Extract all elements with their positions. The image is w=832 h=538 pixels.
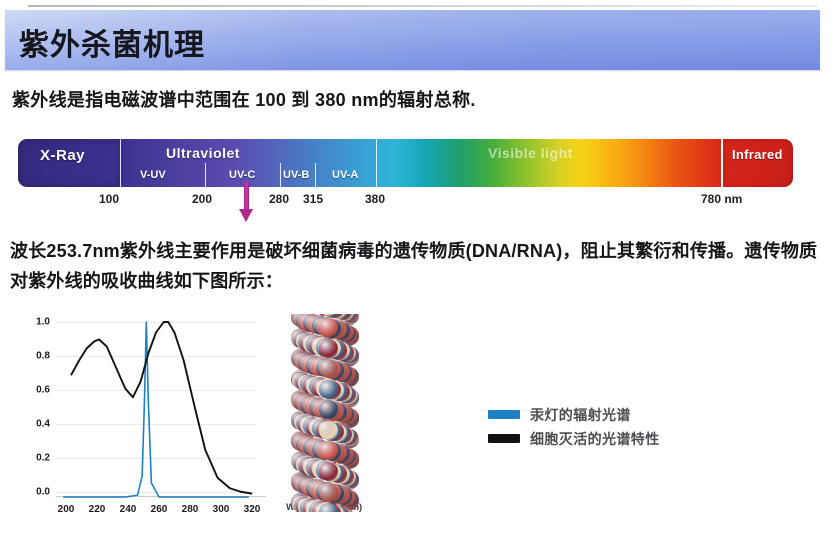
chart-xtick: 200: [58, 504, 75, 515]
chart-legend: 汞灯的辐射光谱 细胞灭活的光谱特性: [488, 405, 738, 461]
spectrum-band-ultraviolet-label: Ultraviolet: [166, 145, 240, 161]
legend-label: 汞灯的辐射光谱: [530, 405, 631, 425]
chart-plot-area: 1.0 0.8 0.6 0.4 0.2 0.0 200 220 240 260 …: [56, 322, 256, 497]
spectrum-divider-315: [315, 163, 316, 187]
chart-xtick: 280: [182, 504, 199, 515]
spectrum-subband-uv-a-label: UV-A: [332, 169, 358, 181]
spectrum-divider-200: [205, 163, 206, 187]
chart-ytick: 0.0: [36, 487, 50, 498]
chart-xtick: 300: [213, 504, 230, 515]
spectrum-subband-uv-b-label: UV-B: [283, 169, 309, 181]
spectrum-subband-v-uv-label: V-UV: [140, 169, 166, 181]
chart-xtick: 320: [244, 504, 261, 515]
spectrum-band-xray-label: X-Ray: [40, 147, 85, 164]
chart-xtick: 240: [120, 504, 137, 515]
slide-root: 紫外杀菌机理 紫外线是指电磁波谱中范围在 100 到 380 nm的辐射总称. …: [0, 0, 832, 538]
legend-swatch-icon: [488, 410, 520, 419]
spectrum-band-xray: X-Ray: [18, 139, 120, 187]
top-divider-rule: [28, 5, 818, 7]
chart-ytick: 0.2: [36, 453, 50, 464]
chart-ytick: 1.0: [36, 317, 50, 328]
spectrum-figure: X-Ray Ultraviolet Visible light Infrared…: [0, 132, 832, 224]
spectrum-tick-315: 315: [303, 192, 323, 206]
chart-xtick: 220: [89, 504, 106, 515]
spectrum-tick-200: 200: [192, 192, 212, 206]
body-paragraph: 波长253.7nm紫外线主要作用是破坏细菌病毒的遗传物质(DNA/RNA)，阻止…: [10, 236, 822, 296]
spectrum-divider-280: [280, 163, 281, 187]
spectrum-tick-280: 280: [269, 192, 289, 206]
series-mercury-lamp: [64, 322, 249, 497]
spectrum-bar: X-Ray Ultraviolet Visible light Infrared…: [18, 139, 793, 187]
spectrum-divider-100: [120, 139, 121, 187]
chart-curves: [56, 322, 256, 497]
spectrum-tick-100: 100: [99, 192, 119, 206]
spectrum-divider-380: [376, 139, 377, 187]
intro-paragraph: 紫外线是指电磁波谱中范围在 100 到 380 nm的辐射总称.: [12, 86, 476, 112]
chart-ytick: 0.8: [36, 351, 50, 362]
legend-swatch-icon: [488, 434, 520, 443]
chart-ytick: 0.4: [36, 419, 50, 430]
dna-helix-image: [285, 314, 365, 512]
chart-ytick: 0.6: [36, 385, 50, 396]
series-cell-inactivation: [71, 322, 251, 494]
spectrum-subband-uv-c-label: UV-C: [229, 169, 255, 181]
slide-header-band: 紫外杀菌机理: [5, 10, 820, 70]
spectrum-tick-780: 780 nm: [701, 192, 742, 206]
page-title: 紫外杀菌机理: [19, 24, 205, 68]
chart-xtick: 260: [151, 504, 168, 515]
spectrum-band-infrared-label: Infrared: [732, 147, 783, 162]
legend-label: 细胞灭活的光谱特性: [530, 429, 660, 449]
uv-c-pointer-icon: [239, 182, 253, 224]
spectrum-tick-380: 380: [365, 192, 385, 206]
absorption-chart: 1.0 0.8 0.6 0.4 0.2 0.0 200 220 240 260 …: [8, 310, 378, 525]
spectrum-band-visible-label: Visible light: [488, 145, 573, 161]
